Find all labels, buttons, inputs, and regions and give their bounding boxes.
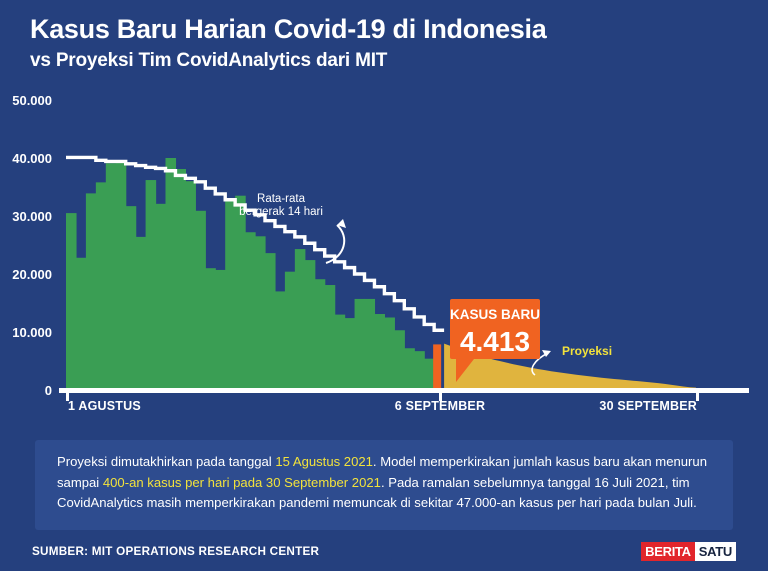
y-tick-label: 40.000 xyxy=(12,151,52,166)
bar xyxy=(146,180,157,390)
bar xyxy=(136,237,147,390)
covid-cases-chart: 010.00020.00030.00040.00050.000 1 AGUSTU… xyxy=(0,85,768,410)
bar xyxy=(355,299,366,390)
annotation-line-1: Rata-rata xyxy=(257,193,306,205)
bar xyxy=(365,299,376,390)
bar xyxy=(66,213,77,390)
bar xyxy=(305,260,316,390)
callout-label: KASUS BARU xyxy=(450,307,540,322)
callout-value: 4.413 xyxy=(460,326,530,357)
bar xyxy=(275,291,286,390)
bar xyxy=(76,258,87,390)
bar xyxy=(265,253,276,390)
bar xyxy=(285,272,296,390)
x-tick-label: 6 SEPTEMBER xyxy=(395,399,485,410)
bar xyxy=(96,182,107,390)
note-plain: Proyeksi dimutakhirkan pada tanggal xyxy=(57,454,275,469)
y-tick-label: 20.000 xyxy=(12,267,52,282)
y-tick-label: 50.000 xyxy=(12,93,52,108)
beritasatu-logo: BERITA SATU xyxy=(641,542,736,561)
note-highlight: 400-an kasus per hari pada 30 September … xyxy=(103,475,381,490)
bar xyxy=(374,314,385,390)
bar xyxy=(325,285,336,390)
note-text: Proyeksi dimutakhirkan pada tanggal 15 A… xyxy=(57,452,715,514)
highlight-bar-rect xyxy=(433,344,441,390)
header: Kasus Baru Harian Covid-19 di Indonesia … xyxy=(30,12,730,74)
source-text: SUMBER: MIT OPERATIONS RESEARCH CENTER xyxy=(32,541,736,563)
bar xyxy=(235,196,246,390)
bar xyxy=(195,211,206,390)
page-subtitle: vs Proyeksi Tim CovidAnalytics dari MIT xyxy=(30,48,730,74)
bar xyxy=(215,270,226,390)
bar xyxy=(404,348,415,390)
bars-actual-series xyxy=(66,158,435,390)
bar xyxy=(394,330,405,390)
bar xyxy=(156,204,167,390)
logo-berita-text: BERITA xyxy=(641,542,695,561)
bar xyxy=(166,158,177,390)
projection-label: Proyeksi xyxy=(562,344,612,358)
bar xyxy=(315,279,326,390)
x-axis-labels: 1 AGUSTUS6 SEPTEMBER30 SEPTEMBER xyxy=(68,399,697,410)
bar xyxy=(106,163,117,390)
y-tick-label: 10.000 xyxy=(12,325,52,340)
y-tick-label: 30.000 xyxy=(12,209,52,224)
note-highlight: 15 Agustus 2021 xyxy=(275,454,373,469)
bar xyxy=(295,249,306,390)
bar xyxy=(255,236,266,390)
note-box: Proyeksi dimutakhirkan pada tanggal 15 A… xyxy=(35,440,733,530)
bar xyxy=(225,198,236,390)
bar xyxy=(384,318,395,391)
bar xyxy=(185,181,196,390)
bar xyxy=(345,318,356,390)
bar xyxy=(86,193,97,390)
bar xyxy=(126,206,137,390)
annotation-line-2: bergerak 14 hari xyxy=(239,206,323,218)
y-tick-label: 0 xyxy=(45,383,52,398)
bar xyxy=(116,161,127,390)
bar xyxy=(414,351,425,390)
page-title: Kasus Baru Harian Covid-19 di Indonesia xyxy=(30,12,730,46)
bar xyxy=(335,315,346,390)
bar xyxy=(205,268,216,390)
chart-area: 010.00020.00030.00040.00050.000 1 AGUSTU… xyxy=(0,85,768,410)
x-tick-label: 1 AGUSTUS xyxy=(68,399,141,410)
bar xyxy=(175,169,186,390)
highlight-bar xyxy=(433,344,441,390)
infographic-root: Kasus Baru Harian Covid-19 di Indonesia … xyxy=(0,0,768,571)
y-axis-labels: 010.00020.00030.00040.00050.000 xyxy=(12,93,52,398)
x-tick-label: 30 SEPTEMBER xyxy=(599,399,697,410)
logo-satu-text: SATU xyxy=(695,542,736,561)
bar xyxy=(245,232,256,390)
footer: SUMBER: MIT OPERATIONS RESEARCH CENTER B… xyxy=(32,541,736,563)
